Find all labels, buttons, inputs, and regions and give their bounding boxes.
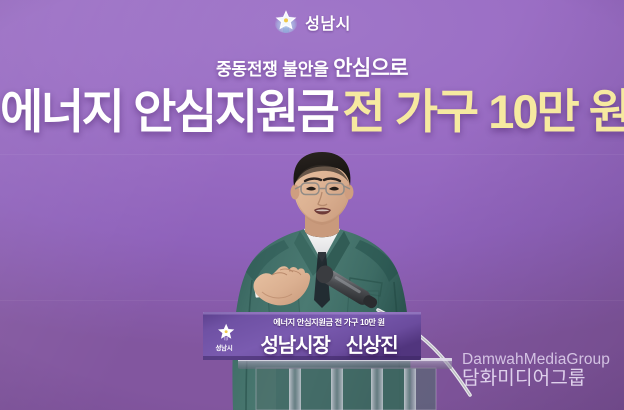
watermark: DamwahMediaGroup 담화미디어그룹	[462, 352, 610, 388]
photo-vignette	[0, 0, 624, 410]
watermark-english: DamwahMediaGroup	[462, 352, 610, 368]
watermark-korean: 담화미디어그룹	[462, 369, 610, 388]
press-conference-screenshot: 성남시 중동전쟁 불안을 안심으로 에너지 안심지원금전 가구 10만 원	[0, 0, 624, 410]
